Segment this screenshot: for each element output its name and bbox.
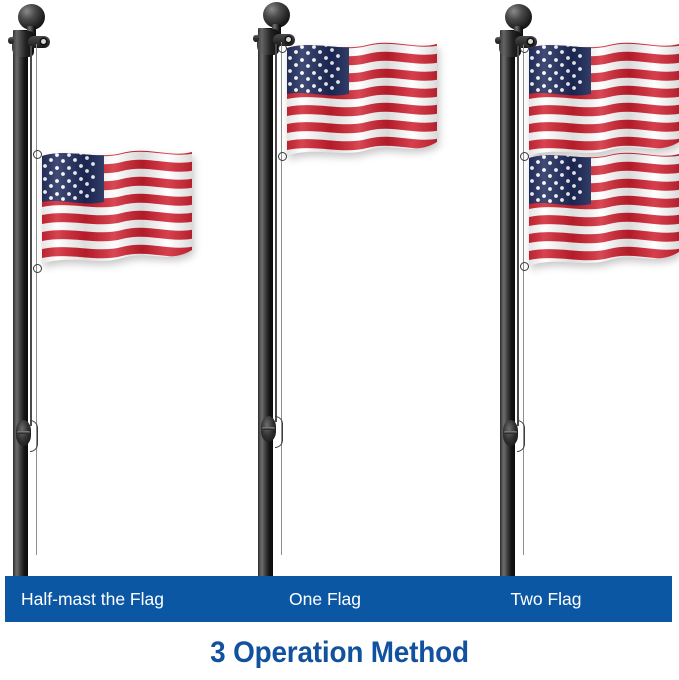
headline-title: 3 Operation Method [24,636,655,670]
truck-nub-3 [495,37,501,44]
caption-half-mast: Half-mast the Flag [21,576,164,622]
panel-half-mast [0,0,230,600]
cleat-bar-2 [262,427,275,430]
halyard-loop-3 [517,420,525,452]
cleat-bar-1 [17,431,30,434]
flagpole-mast-3 [500,30,515,600]
halyard-rope-outer-1 [36,44,37,555]
truck-nub-2 [253,35,259,42]
infographic-canvas: Half-mast the Flag One Flag Two Flag 3 O… [0,0,679,680]
halyard-rope-inner-3 [517,46,519,426]
cleat-bar-3 [504,431,517,434]
flagpole-mast-2 [258,28,273,600]
halyard-rope-inner-1 [30,46,32,426]
halyard-loop-1 [30,420,38,452]
halyard-rope-inner-2 [275,44,277,422]
truck-pulley-hole-1 [41,39,46,44]
us-flag-2 [283,38,441,166]
us-flag-3-upper [525,38,679,166]
panel-two-flag [487,0,679,600]
caption-banner: Half-mast the Flag One Flag Two Flag [5,576,672,622]
caption-one-flag: One Flag [203,576,447,622]
halyard-loop-2 [275,416,283,448]
panel-one-flag [245,0,475,600]
truck-nub-1 [8,37,14,44]
flagpole-mast-1 [13,30,28,600]
us-flag-3-lower [525,148,679,276]
caption-two-flag: Two Flag [430,576,662,622]
us-flag-1 [38,146,196,274]
